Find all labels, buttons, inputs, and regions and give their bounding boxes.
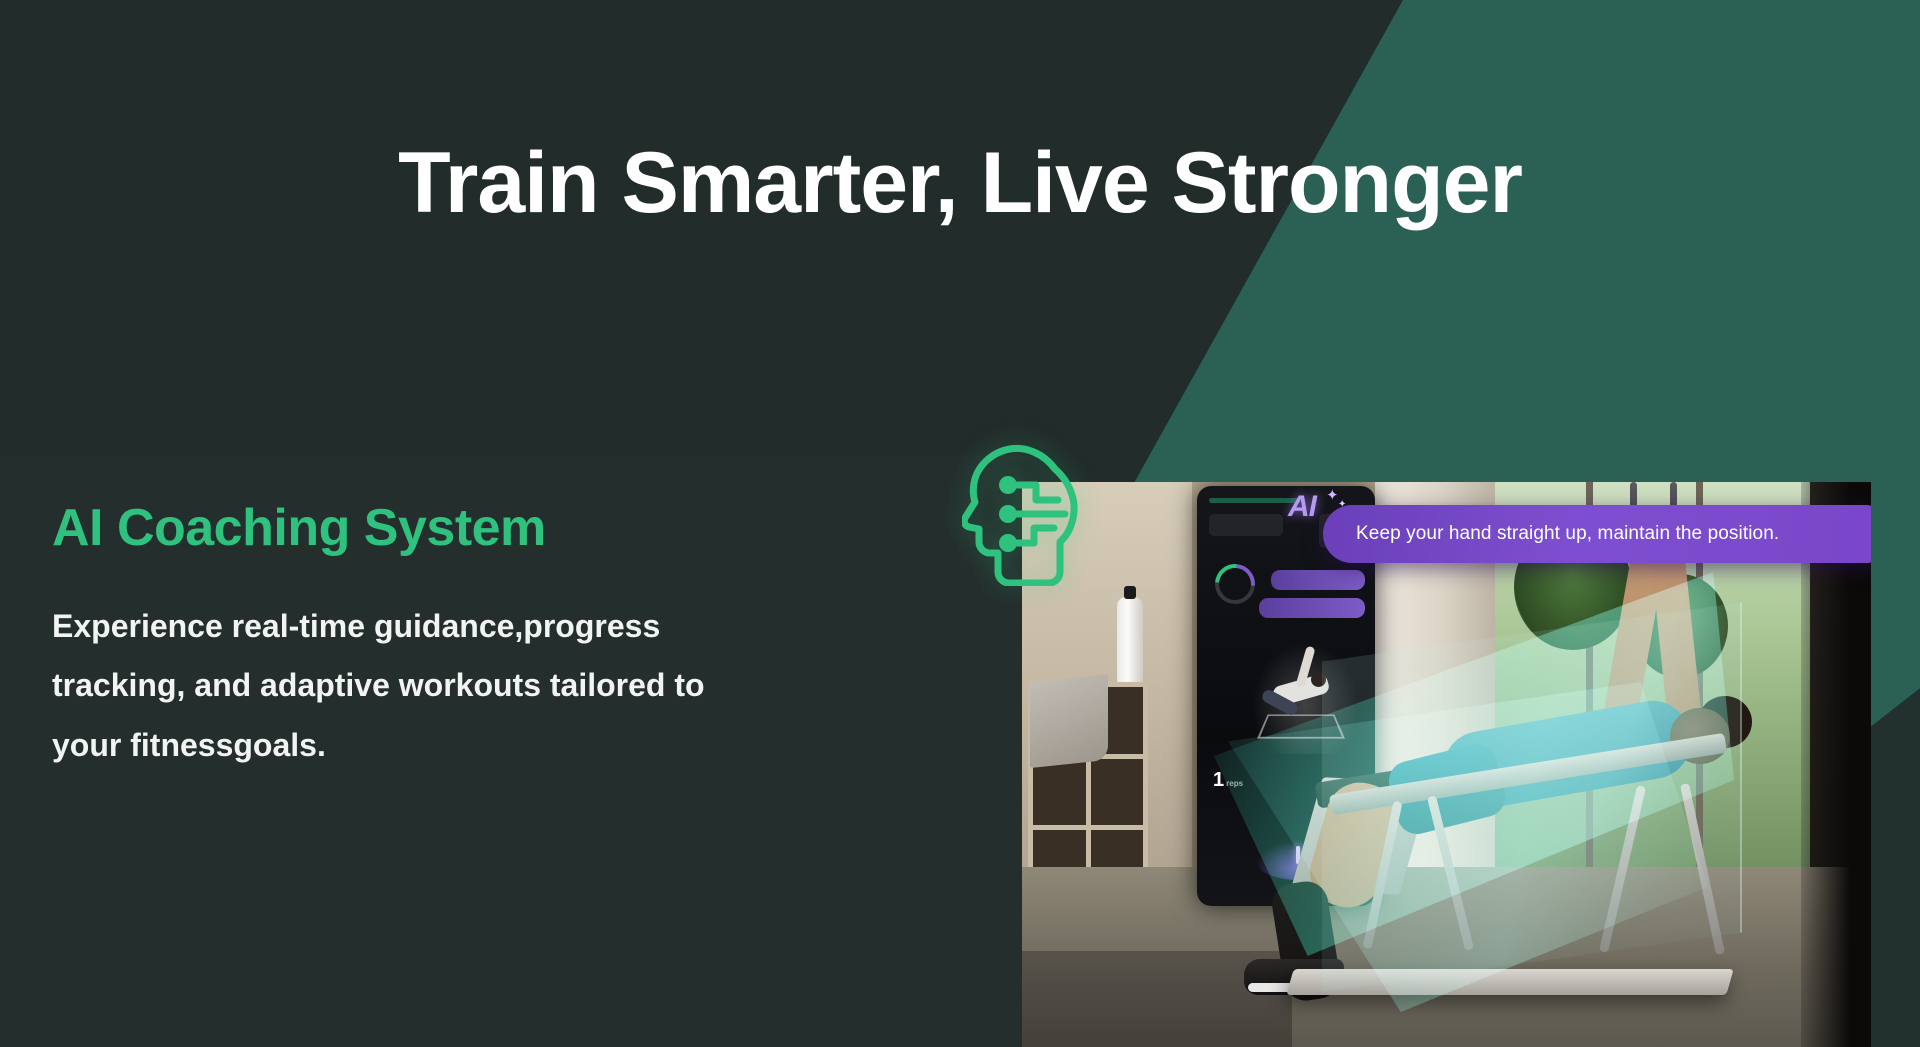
- mirror-chat-bubble: [1271, 570, 1365, 590]
- rep-counter-value: 1: [1213, 769, 1224, 791]
- ai-coach-message-banner: Keep your hand straight up, maintain the…: [1323, 505, 1871, 563]
- bench-base: [1286, 969, 1733, 995]
- progress-ring-icon: [1207, 556, 1263, 612]
- ai-brain-head-icon: [962, 438, 1080, 586]
- room-dark-right: [1801, 482, 1871, 1047]
- sparkle-icon: ✦: [1326, 486, 1339, 504]
- exercise-demo-figure: [1245, 634, 1355, 754]
- hero-section: Train Smarter, Live Stronger AI Coaching…: [0, 0, 1920, 1047]
- rep-counter-unit: reps: [1226, 779, 1243, 788]
- rep-counter: 1reps: [1213, 770, 1243, 790]
- page-title: Train Smarter, Live Stronger: [0, 140, 1920, 226]
- feature-heading: AI Coaching System: [52, 500, 962, 557]
- ai-badge-label: AI: [1288, 490, 1316, 524]
- feature-description: Experience real-time guidance,progress t…: [52, 597, 782, 775]
- sparkle-icon: ✦: [1338, 499, 1346, 510]
- mirror-info-chip: [1209, 514, 1283, 536]
- water-bottle: [1117, 597, 1143, 685]
- ai-coach-message-text: Keep your hand straight up, maintain the…: [1356, 523, 1779, 545]
- towel: [1030, 674, 1108, 768]
- mirror-chat-bubble: [1259, 598, 1365, 618]
- hero-photo: 1reps AI ✦ ✦ Keep your hand straight: [1022, 482, 1871, 1047]
- feature-copy-block: AI Coaching System Experience real-time …: [52, 500, 962, 775]
